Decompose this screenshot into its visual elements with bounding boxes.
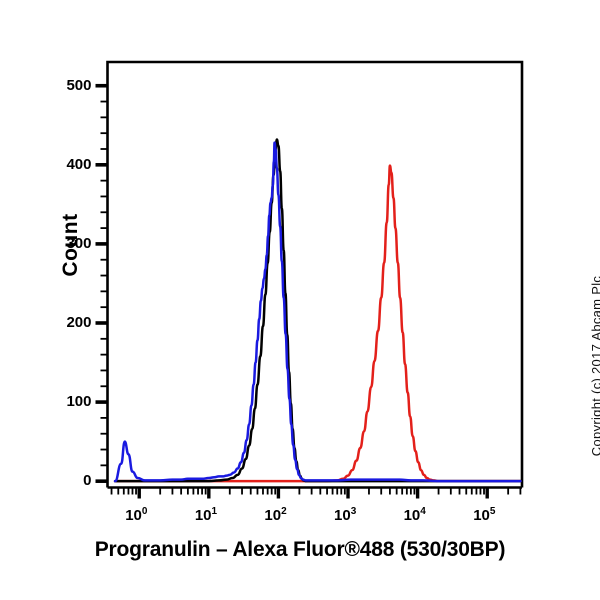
x-tick-label-1: 101 [195,506,217,524]
y-tick-label-4: 400 [46,156,92,173]
x-tick-label-2: 102 [264,506,286,524]
y-tick-label-3: 300 [46,235,92,252]
y-tick-label-2: 200 [46,314,92,331]
y-tick-label-1: 100 [46,393,92,410]
x-tick-label-0: 100 [125,506,147,524]
plot-title: Progranulin – Alexa Fluor®488 (530/30BP) [0,538,600,562]
copyright-notice: Copyright (c) 2017 Abcam Plc [589,236,600,496]
y-tick-label-0: 0 [46,472,92,489]
x-tick-label-4: 104 [404,506,426,524]
y-tick-label-5: 500 [46,77,92,94]
x-tick-label-3: 103 [334,506,356,524]
x-tick-label-5: 105 [473,506,495,524]
